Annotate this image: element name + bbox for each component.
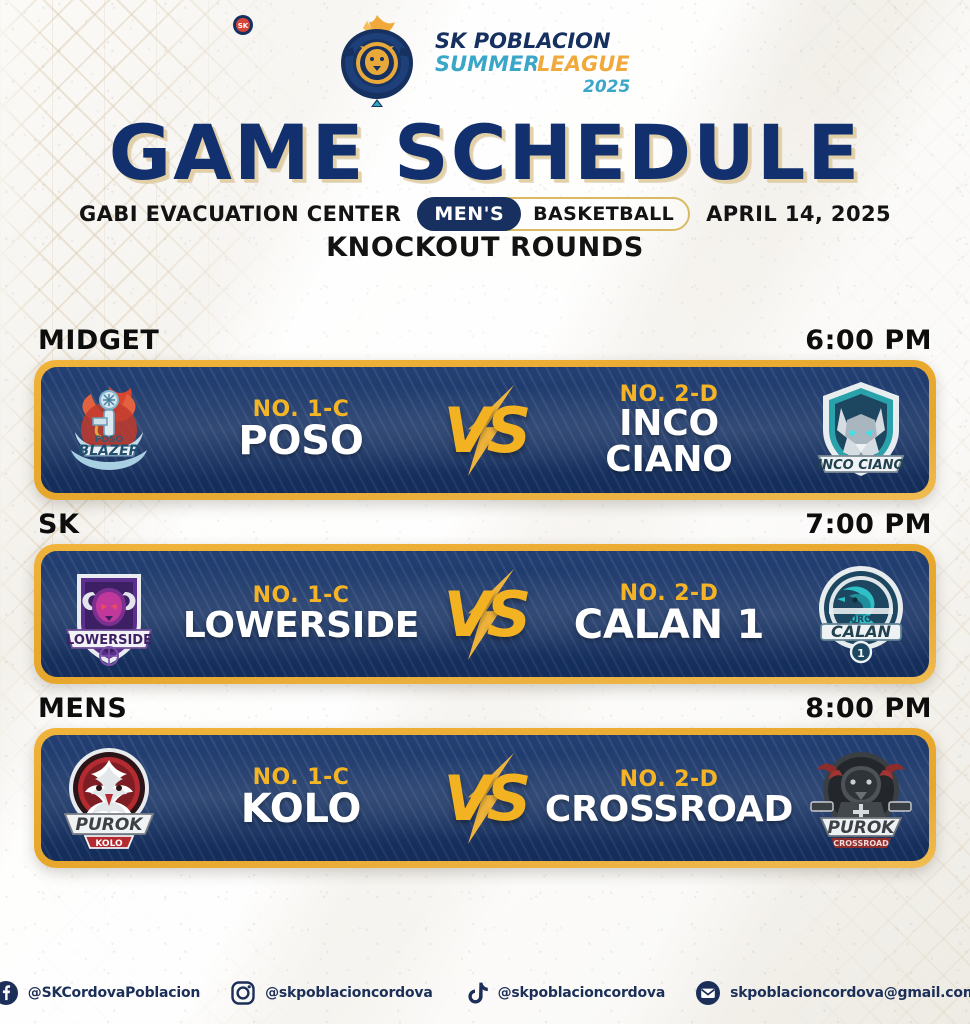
- league-logo: SK POBLACION SUMMER LEAGUE 2025 SK: [0, 8, 970, 118]
- away-team-name: CROSSROAD: [545, 792, 793, 828]
- away-team-info: NO. 2-D CALAN 1: [545, 582, 793, 645]
- social-link-facebook[interactable]: @SKCordovaPoblacion: [0, 980, 200, 1006]
- division-label: MENS: [38, 693, 127, 724]
- game-schedule-poster: SK POBLACION SUMMER LEAGUE 2025 SK GAME …: [0, 0, 970, 1024]
- home-team-name: KOLO: [241, 790, 361, 830]
- match-list: MIDGET 6:00 PM: [34, 325, 936, 877]
- league-year: 2025: [583, 77, 630, 97]
- match-card: LOWERSIDE NO. 1-C LOWERSIDE: [34, 544, 936, 684]
- away-team-info: NO. 2-D INCO CIANO: [545, 383, 793, 478]
- home-team-name: LOWERSIDE: [183, 608, 419, 644]
- svg-text:INCO CIANO: INCO CIANO: [817, 458, 904, 473]
- league-line-1: SK POBLACION: [435, 29, 611, 53]
- sk-government-seal-icon: SK: [232, 14, 254, 36]
- tiktok-icon: [463, 980, 489, 1006]
- venue-label: GABI EVACUATION CENTER: [79, 202, 401, 226]
- social-link-tiktok[interactable]: @skpoblacioncordova: [463, 980, 665, 1006]
- svg-text:KOLO: KOLO: [95, 839, 123, 849]
- email-icon: [695, 980, 721, 1006]
- tipoff-time: 8:00 PM: [805, 693, 932, 724]
- rounds-label: KNOCKOUT ROUNDS: [0, 232, 970, 263]
- svg-text:CALAN: CALAN: [831, 622, 892, 641]
- away-team-logo: PUROK CALAN 1: [793, 556, 929, 672]
- social-footer: @SKCordovaPoblacion @skpoblacioncordova …: [0, 970, 970, 1016]
- versus-marker: VS: [425, 394, 545, 467]
- email-handle: skpoblacioncordova@gmail.com: [730, 985, 970, 1001]
- league-line-2-summer: SUMMER: [435, 52, 540, 76]
- home-team-name: POSO: [238, 422, 363, 462]
- purok-calan-dragon-logo-icon: PUROK CALAN 1: [803, 556, 919, 672]
- league-wordmark: SK POBLACION SUMMER LEAGUE 2025: [433, 26, 641, 100]
- svg-text:CROSSROAD: CROSSROAD: [833, 839, 889, 848]
- social-link-email[interactable]: skpoblacioncordova@gmail.com: [695, 980, 970, 1006]
- svg-text:SK: SK: [238, 22, 249, 30]
- event-date: APRIL 14, 2025: [706, 202, 891, 226]
- facebook-icon: [0, 980, 19, 1006]
- svg-text:PUROK: PUROK: [76, 815, 145, 835]
- page-title: GAME SCHEDULE: [0, 108, 970, 197]
- home-team-info: NO. 1-C POSO: [177, 398, 425, 461]
- home-team-info: NO. 1-C LOWERSIDE: [177, 584, 425, 643]
- match-row: MIDGET 6:00 PM: [34, 325, 936, 500]
- lion-crest-icon: [329, 13, 425, 113]
- home-team-logo: PUROK KOLO: [41, 740, 177, 856]
- match-meta: MIDGET 6:00 PM: [34, 325, 936, 360]
- away-team-info: NO. 2-D CROSSROAD: [545, 768, 793, 827]
- versus-label: VS: [444, 762, 527, 835]
- home-team-info: NO. 1-C KOLO: [177, 766, 425, 829]
- match-card: POSO BLAZER NO. 1-C POSO: [34, 360, 936, 500]
- tipoff-time: 6:00 PM: [805, 325, 932, 356]
- tiktok-handle: @skpoblacioncordova: [498, 985, 665, 1001]
- svg-text:LOWERSIDE: LOWERSIDE: [66, 633, 152, 648]
- versus-label: VS: [444, 578, 527, 651]
- division-label: SK: [38, 509, 79, 540]
- purok-kolo-eagle-logo-icon: PUROK KOLO: [51, 740, 167, 856]
- versus-label: VS: [444, 394, 527, 467]
- svg-text:1: 1: [857, 647, 865, 660]
- purok-crossroad-bull-logo-icon: PUROK CROSSROAD: [803, 740, 919, 856]
- away-team-name: CALAN 1: [574, 606, 765, 646]
- match-row: SK 7:00 PM: [34, 509, 936, 684]
- away-team-name: INCO CIANO: [605, 406, 732, 477]
- inco-ciano-wolf-logo-icon: INCO CIANO: [803, 372, 919, 488]
- tipoff-time: 7:00 PM: [805, 509, 932, 540]
- instagram-handle: @skpoblacioncordova: [265, 985, 432, 1001]
- league-line-2-league: LEAGUE: [537, 52, 630, 76]
- versus-marker: VS: [425, 762, 545, 835]
- instagram-icon: [230, 980, 256, 1006]
- home-team-logo: POSO BLAZER: [41, 372, 177, 488]
- category-badge: MEN'S BASKETBALL: [417, 197, 690, 231]
- category-badge-primary: MEN'S: [417, 197, 521, 231]
- svg-text:PUROK: PUROK: [828, 818, 897, 838]
- match-card: PUROK KOLO NO. 1-C KOLO: [34, 728, 936, 868]
- away-team-logo: PUROK CROSSROAD: [793, 740, 929, 856]
- svg-text:BLAZER: BLAZER: [79, 443, 140, 459]
- category-badge-secondary: BASKETBALL: [521, 203, 674, 225]
- poso-blazer-logo-icon: POSO BLAZER: [51, 372, 167, 488]
- lowerside-ram-logo-icon: LOWERSIDE: [51, 556, 167, 672]
- match-row: MENS 8:00 PM: [34, 693, 936, 868]
- home-team-logo: LOWERSIDE: [41, 556, 177, 672]
- event-subheading: GABI EVACUATION CENTER MEN'S BASKETBALL …: [0, 197, 970, 231]
- facebook-handle: @SKCordovaPoblacion: [28, 985, 200, 1001]
- away-team-logo: INCO CIANO: [793, 372, 929, 488]
- division-label: MIDGET: [38, 325, 159, 356]
- match-meta: SK 7:00 PM: [34, 509, 936, 544]
- versus-marker: VS: [425, 578, 545, 651]
- social-link-instagram[interactable]: @skpoblacioncordova: [230, 980, 432, 1006]
- match-meta: MENS 8:00 PM: [34, 693, 936, 728]
